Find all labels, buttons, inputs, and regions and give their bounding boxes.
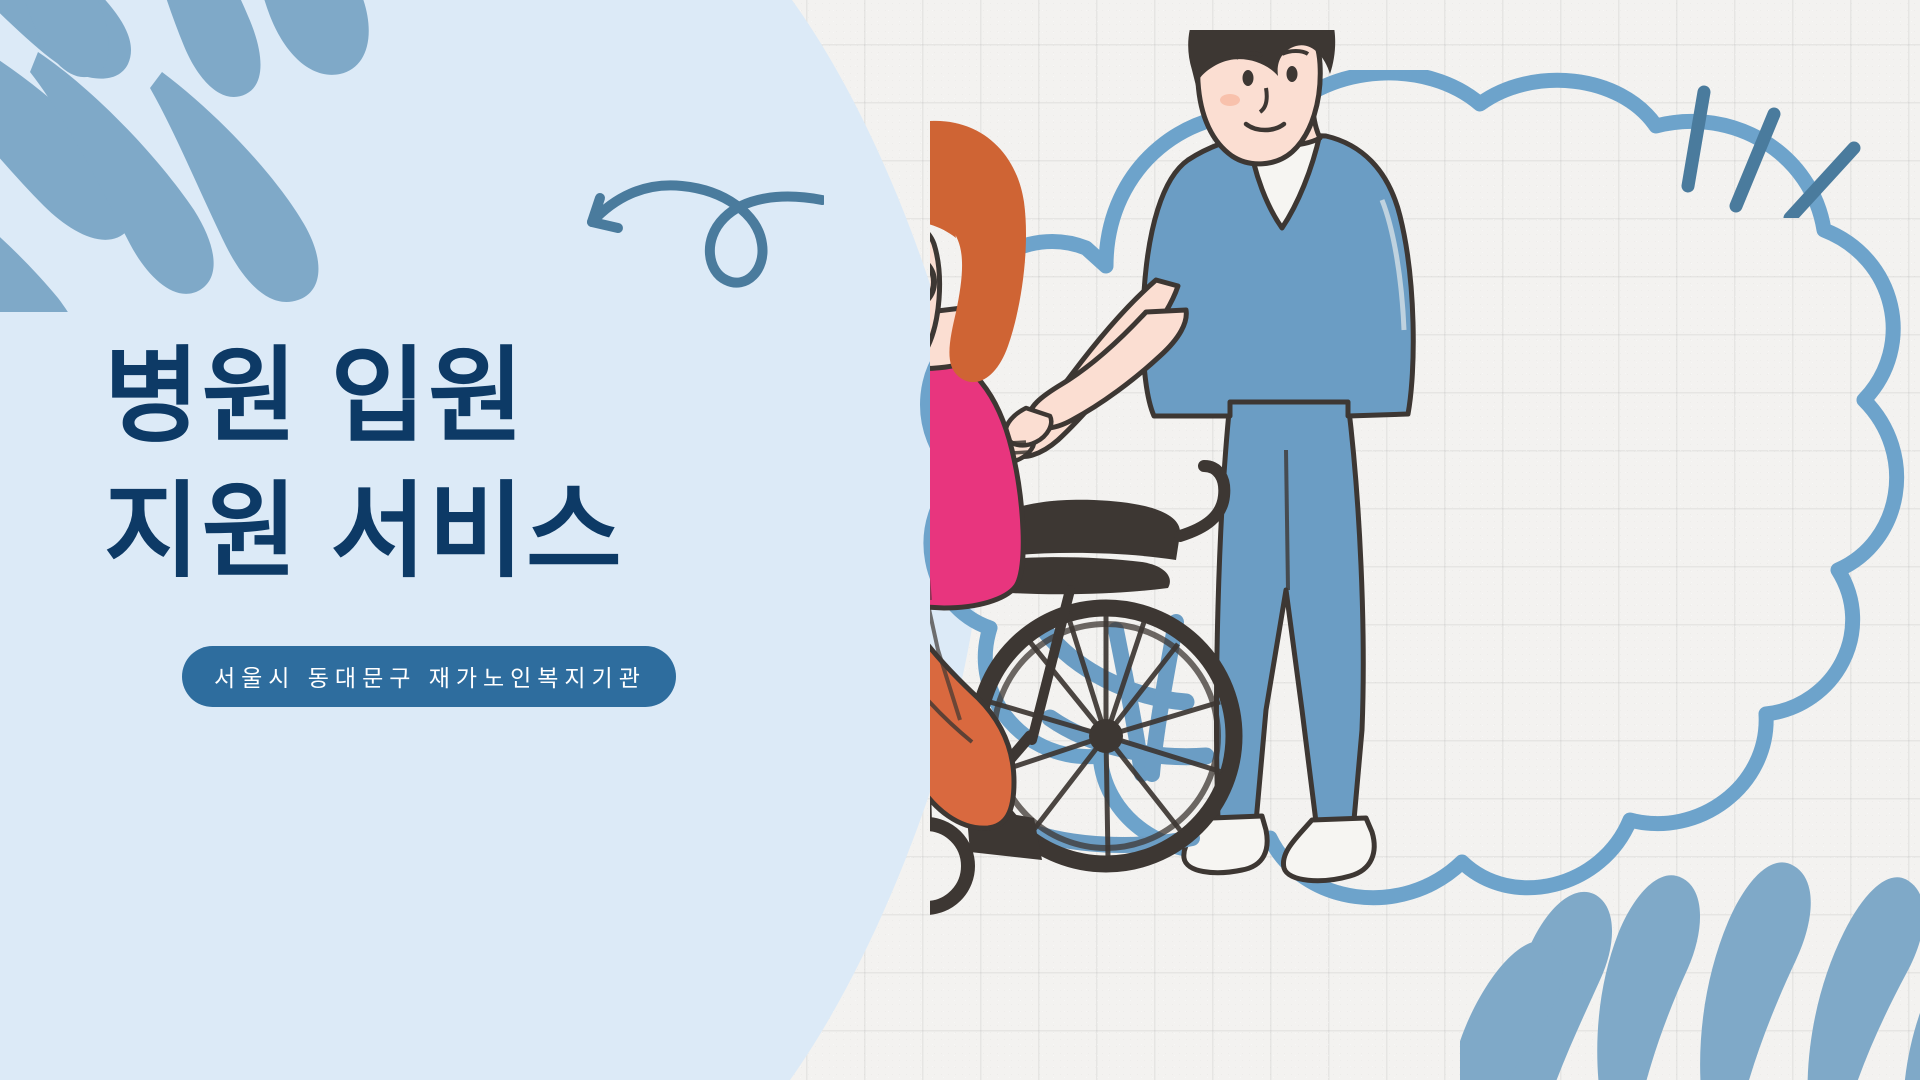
- wheelchair-hub: [1089, 719, 1123, 753]
- poster-canvas: 병원 입원 지원 서비스 서울시 동대문구 재가노인복지기관: [0, 0, 1920, 1080]
- patient-sweater: [930, 352, 1023, 608]
- wheelchair-front-caster: [930, 824, 968, 908]
- badge-container: 서울시 동대문구 재가노인복지기관: [104, 646, 804, 707]
- caregiver-pushing-wheelchair-illustration: [930, 30, 1630, 1070]
- caregiver-cheek: [1220, 94, 1240, 106]
- patient-trousers: [930, 590, 1014, 828]
- headline-block: 병원 입원 지원 서비스 서울시 동대문구 재가노인복지기관: [104, 330, 804, 707]
- page-title-line-2: 지원 서비스: [104, 465, 804, 600]
- caregiver-eye-left: [1243, 70, 1254, 86]
- organization-badge: 서울시 동대문구 재가노인복지기관: [182, 646, 676, 707]
- caregiver-shoe-right: [1283, 818, 1374, 881]
- leaf-frond-icon-top-left: [0, 0, 396, 312]
- page-title-line-1: 병원 입원: [104, 330, 804, 465]
- caregiver-eye-right: [1287, 66, 1298, 82]
- motion-lines-icon: [1678, 78, 1878, 218]
- wheelchair-push-handle: [1180, 466, 1224, 536]
- curly-arrow-icon: [574, 170, 824, 315]
